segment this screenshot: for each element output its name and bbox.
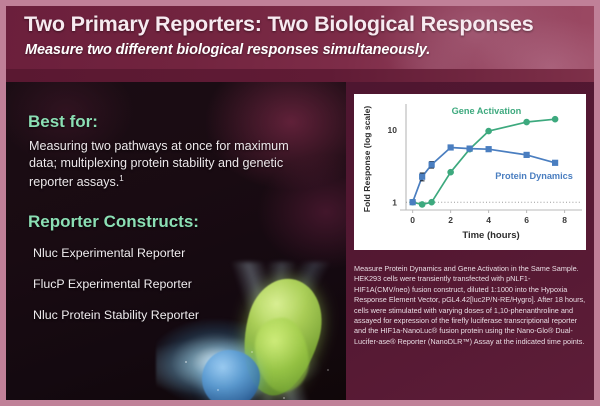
poster-page: Two Primary Reporters: Two Biological Re… <box>0 0 600 406</box>
svg-text:0: 0 <box>410 215 415 225</box>
svg-text:Fold Response (log scale): Fold Response (log scale) <box>362 106 372 213</box>
svg-text:4: 4 <box>486 215 491 225</box>
svg-text:8: 8 <box>562 215 567 225</box>
fold-response-line-chart: 11002468Time (hours)Fold Response (log s… <box>354 94 586 250</box>
left-content-panel: Best for: Measuring two pathways at once… <box>6 82 346 400</box>
page-subtitle: Measure two different biological respons… <box>25 42 430 58</box>
list-item: Nluc Protein Stability Reporter <box>33 308 263 323</box>
svg-text:Gene Activation: Gene Activation <box>452 106 522 116</box>
particle-speckle-decoration <box>156 332 346 400</box>
chart-panel: 11002468Time (hours)Fold Response (log s… <box>354 94 586 250</box>
poster-frame: Two Primary Reporters: Two Biological Re… <box>6 6 594 400</box>
list-item: Nluc Experimental Reporter <box>33 246 263 261</box>
best-for-heading: Best for: <box>28 112 98 132</box>
right-content-panel: 11002468Time (hours)Fold Response (log s… <box>346 82 594 400</box>
footnote-marker: 1 <box>119 174 123 183</box>
figure-caption: Measure Protein Dynamics and Gene Activa… <box>354 264 586 347</box>
svg-text:10: 10 <box>388 125 398 135</box>
svg-text:1: 1 <box>392 198 397 208</box>
header-banner: Two Primary Reporters: Two Biological Re… <box>6 6 594 82</box>
svg-text:6: 6 <box>524 215 529 225</box>
reporter-constructs-heading: Reporter Constructs: <box>28 212 199 232</box>
svg-text:2: 2 <box>448 215 453 225</box>
svg-text:Protein Dynamics: Protein Dynamics <box>495 171 573 181</box>
best-for-body-text: Measuring two pathways at once for maxim… <box>29 139 289 189</box>
svg-text:Time (hours): Time (hours) <box>462 230 519 241</box>
list-item: FlucP Experimental Reporter <box>33 277 263 292</box>
page-title: Two Primary Reporters: Two Biological Re… <box>24 12 534 37</box>
best-for-body: Measuring two pathways at once for maxim… <box>29 138 317 191</box>
